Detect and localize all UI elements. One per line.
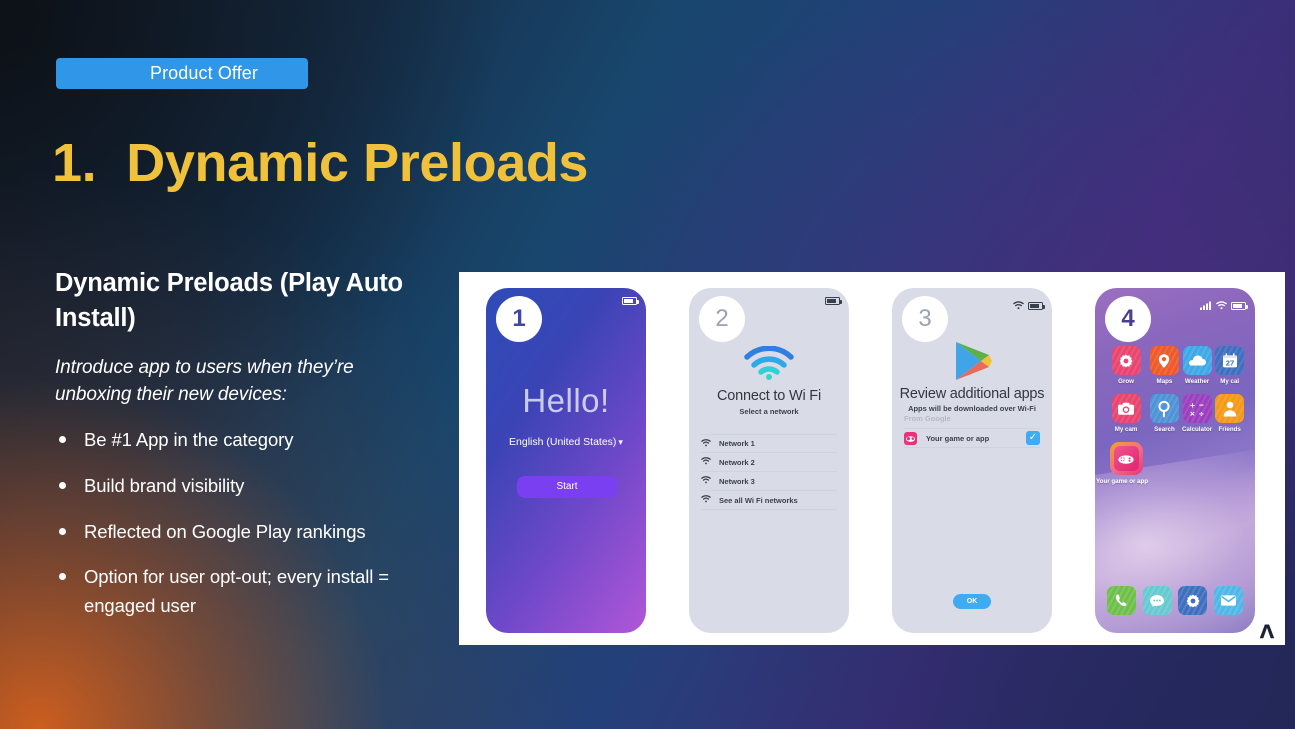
app-label: Your game or app [1096, 478, 1148, 485]
list-item: Option for user opt-out; every install =… [55, 563, 435, 620]
status-bar [1013, 297, 1043, 315]
map-pin-icon [1150, 346, 1179, 375]
app-icon-calculator[interactable]: +−×÷ Calculator [1181, 394, 1214, 433]
app-row[interactable]: Your game or app ✓ [904, 428, 1040, 448]
messages-icon[interactable] [1143, 586, 1172, 615]
status-bar [825, 297, 840, 305]
language-selector[interactable]: English (United States)▾ [486, 436, 646, 448]
app-icon-your-game-or-app[interactable]: Your game or app [1104, 442, 1148, 485]
svg-text:÷: ÷ [1199, 408, 1204, 418]
left-content-column: Dynamic Preloads (Play Auto Install) Int… [55, 266, 435, 621]
section-label: From Google [904, 414, 951, 423]
list-item: Be #1 App in the category [55, 426, 435, 455]
app-icon-weather[interactable]: Weather [1181, 346, 1214, 385]
wifi-icon [1216, 297, 1227, 315]
network-name: Network 1 [719, 439, 755, 448]
phone-icon[interactable] [1107, 586, 1136, 615]
battery-icon [825, 297, 840, 305]
phone-mockup-1: 1 Hello! English (United States)▾ Start [486, 288, 646, 633]
status-bar [1200, 297, 1246, 315]
wifi-icon [701, 476, 711, 486]
screen-title: Connect to Wi Fi [689, 388, 849, 404]
app-label: Grow [1104, 378, 1148, 385]
phone-mockup-4: 4 Grow [1095, 288, 1255, 633]
list-item[interactable]: Network 3 [701, 472, 837, 491]
wifi-icon [701, 457, 711, 467]
wifi-hero-icon [689, 346, 849, 385]
app-label: Search [1148, 426, 1181, 433]
app-label: Friends [1213, 426, 1246, 433]
step-number-badge: 2 [699, 296, 745, 342]
cloud-icon [1183, 346, 1212, 375]
google-play-icon [892, 340, 1052, 389]
wifi-icon [701, 439, 711, 449]
phone-mockup-3: 3 Review additional apps Apps will be do… [892, 288, 1052, 633]
ok-button[interactable]: OK [953, 594, 991, 609]
screen-subtitle: Apps will be downloaded over Wi-Fi [892, 404, 1052, 413]
list-item: Reflected on Google Play rankings [55, 518, 435, 547]
screen-title: Review additional apps [892, 386, 1052, 402]
app-icon-friends[interactable]: Friends [1213, 394, 1246, 433]
product-offer-badge: Product Offer [56, 58, 308, 89]
app-icon-grow[interactable]: Grow [1104, 346, 1148, 385]
section-heading: Dynamic Preloads (Play Auto Install) [55, 266, 435, 335]
network-name: See all Wi Fi networks [719, 496, 798, 505]
wifi-icon [1013, 297, 1024, 315]
search-icon [1150, 394, 1179, 423]
slide-canvas: Product Offer 1.Dynamic Preloads Dynamic… [0, 0, 1295, 729]
app-icon-maps[interactable]: Maps [1148, 346, 1181, 385]
app-icon-my-cal[interactable]: 27 My cal [1213, 346, 1246, 385]
checkbox-checked[interactable]: ✓ [1026, 431, 1040, 445]
status-bar [622, 297, 637, 305]
network-name: Network 3 [719, 477, 755, 486]
language-value: English (United States) [509, 436, 616, 448]
phone-mockups-panel: 1 Hello! English (United States)▾ Start … [459, 272, 1285, 645]
game-app-icon [904, 432, 917, 445]
benefit-list: Be #1 App in the category Build brand vi… [55, 426, 435, 620]
list-item: Build brand visibility [55, 472, 435, 501]
network-name: Network 2 [719, 458, 755, 467]
svg-text:×: × [1190, 408, 1195, 418]
settings-gear-icon[interactable] [1178, 586, 1207, 615]
list-item[interactable]: See all Wi Fi networks [701, 491, 837, 510]
list-item[interactable]: Network 2 [701, 453, 837, 472]
network-list: Network 1 Network 2 Network 3 [701, 434, 837, 510]
app-label: My cal [1213, 378, 1246, 385]
app-label: Weather [1181, 378, 1214, 385]
calendar-icon: 27 [1215, 346, 1244, 375]
app-icon-search[interactable]: Search [1148, 394, 1181, 433]
title-number: 1. [52, 133, 96, 193]
app-label: Calculator [1181, 426, 1214, 433]
app-icon-my-cam[interactable]: My cam [1104, 394, 1148, 433]
dock [1104, 586, 1246, 615]
app-label: Maps [1148, 378, 1181, 385]
svg-text:27: 27 [1225, 358, 1233, 367]
brand-logo-mark: Λ [1257, 621, 1277, 643]
app-label: My cam [1104, 426, 1148, 433]
battery-icon [1231, 302, 1246, 310]
page-title: 1.Dynamic Preloads [52, 132, 588, 194]
title-text: Dynamic Preloads [126, 133, 588, 193]
chevron-down-icon: ▾ [618, 437, 623, 448]
greeting-text: Hello! [486, 382, 646, 420]
app-name: Your game or app [926, 434, 1017, 443]
person-icon [1215, 394, 1244, 423]
battery-icon [1028, 302, 1043, 310]
step-number-badge: 3 [902, 296, 948, 342]
phone-mockup-2: 2 Connect to Wi Fi Select a network [689, 288, 849, 633]
gear-icon [1112, 346, 1141, 375]
mail-icon[interactable] [1214, 586, 1243, 615]
step-number-badge: 4 [1105, 296, 1151, 342]
section-lede: Introduce app to users when they’re unbo… [55, 355, 435, 409]
battery-icon [622, 297, 637, 305]
wifi-icon [701, 495, 711, 505]
calculator-icon: +−×÷ [1183, 394, 1212, 423]
start-button[interactable]: Start [517, 476, 617, 498]
camera-icon [1112, 394, 1141, 423]
gamepad-icon [1110, 442, 1143, 475]
signal-bars-icon [1200, 297, 1212, 315]
list-item[interactable]: Network 1 [701, 434, 837, 453]
step-number-badge: 1 [496, 296, 542, 342]
screen-subtitle: Select a network [689, 407, 849, 416]
app-grid: Grow Maps Weather 27 [1104, 346, 1246, 485]
